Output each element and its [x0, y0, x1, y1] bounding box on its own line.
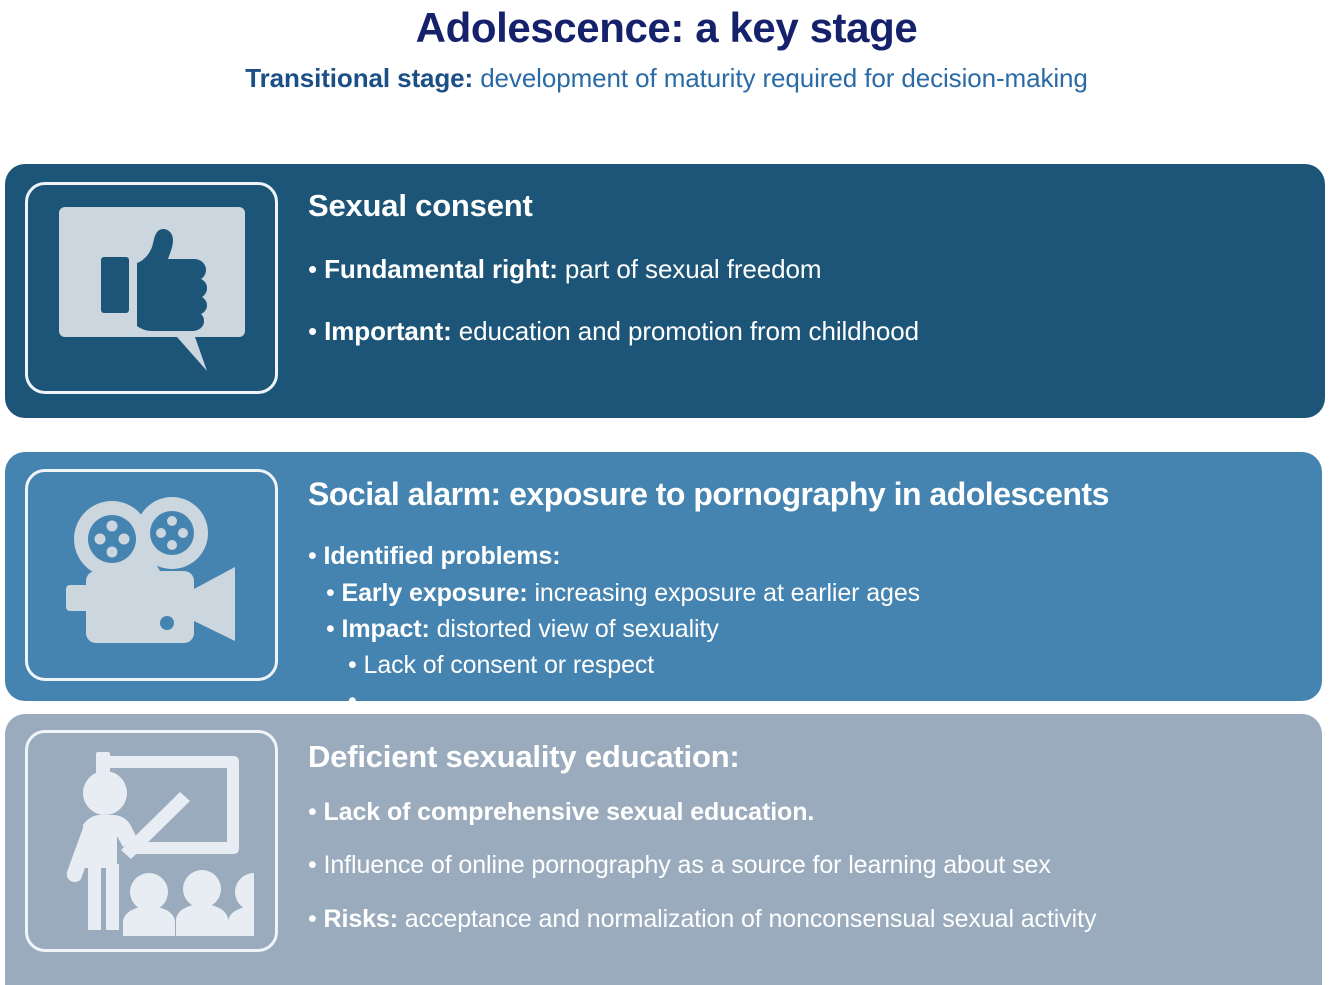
bullet-lead: Early exposure:	[342, 579, 528, 607]
bullet-item: • Identified problems:	[308, 541, 1302, 572]
bullet-lead: Impact:	[342, 615, 430, 643]
bullet-item-clipped: •	[348, 686, 1302, 701]
bullet-marker: •	[308, 798, 317, 826]
card-heading: Sexual consent	[308, 187, 1305, 224]
card-heading: Social alarm: exposure to pornography in…	[308, 475, 1302, 513]
bullet-item: • Fundamental right: part of sexual free…	[308, 253, 1305, 286]
subtitle-rest: development of maturity required for dec…	[473, 63, 1088, 93]
card-body-sexual-consent: Sexual consent • Fundamental right: part…	[278, 164, 1325, 347]
slide-header: Adolescence: a key stage Transitional st…	[0, 0, 1333, 150]
bullet-marker: •	[308, 905, 317, 933]
page-subtitle: Transitional stage: development of matur…	[0, 63, 1333, 94]
bullet-item: • Important: education and promotion fro…	[308, 315, 1305, 348]
bullet-rest: education and promotion from childhood	[452, 316, 919, 346]
bullet-item: • Lack of comprehensive sexual education…	[308, 797, 1302, 828]
teacher-classroom-icon	[49, 746, 254, 936]
subtitle-lead: Transitional stage:	[245, 63, 473, 93]
bullet-marker: •	[348, 687, 357, 701]
bullet-rest: Influence of online pornography as a sou…	[324, 851, 1051, 879]
thumbs-up-speech-bubble-icon	[57, 203, 247, 373]
bullet-lead: Important:	[324, 316, 452, 346]
bullet-marker: •	[308, 254, 317, 284]
bullet-item: • Impact: distorted view of sexuality	[326, 614, 1302, 645]
icon-tile-sexual-consent	[25, 182, 278, 394]
card-social-alarm: Social alarm: exposure to pornography in…	[5, 452, 1322, 701]
card-body-deficient-education: Deficient sexuality education: • Lack of…	[278, 714, 1322, 935]
bullet-lead: Risks:	[324, 905, 398, 933]
bullet-rest: part of sexual freedom	[558, 254, 822, 284]
movie-camera-icon	[52, 493, 252, 658]
slide-root: Adolescence: a key stage Transitional st…	[0, 0, 1333, 985]
icon-tile-social-alarm	[25, 469, 278, 681]
bullet-marker: •	[326, 615, 335, 643]
bullet-rest: increasing exposure at earlier ages	[528, 579, 920, 607]
card-heading: Deficient sexuality education:	[308, 738, 1302, 775]
bullet-item: • Risks: acceptance and normalization of…	[308, 904, 1302, 935]
bullet-lead: Identified problems:	[324, 542, 561, 570]
bullet-rest: acceptance and normalization of nonconse…	[398, 905, 1096, 933]
bullet-item: • Lack of consent or respect	[348, 650, 1302, 681]
bullet-marker: •	[326, 579, 335, 607]
bullet-marker: •	[308, 851, 317, 879]
bullet-item: • Influence of online pornography as a s…	[308, 850, 1302, 881]
bullet-marker: •	[308, 316, 317, 346]
bullet-rest: distorted view of sexuality	[430, 615, 719, 643]
card-deficient-education: Deficient sexuality education: • Lack of…	[5, 714, 1322, 985]
card-sexual-consent: Sexual consent • Fundamental right: part…	[5, 164, 1325, 418]
icon-tile-deficient-education	[25, 730, 278, 952]
bullet-lead: Lack of comprehensive sexual education.	[324, 798, 815, 826]
card-body-social-alarm: Social alarm: exposure to pornography in…	[278, 452, 1322, 701]
bullet-marker: •	[308, 542, 317, 570]
bullet-rest: Lack of consent or respect	[364, 651, 655, 679]
bullet-marker: •	[348, 651, 357, 679]
bullet-item: • Early exposure: increasing exposure at…	[326, 578, 1302, 609]
page-title: Adolescence: a key stage	[0, 4, 1333, 52]
bullet-lead: Fundamental right:	[324, 254, 558, 284]
